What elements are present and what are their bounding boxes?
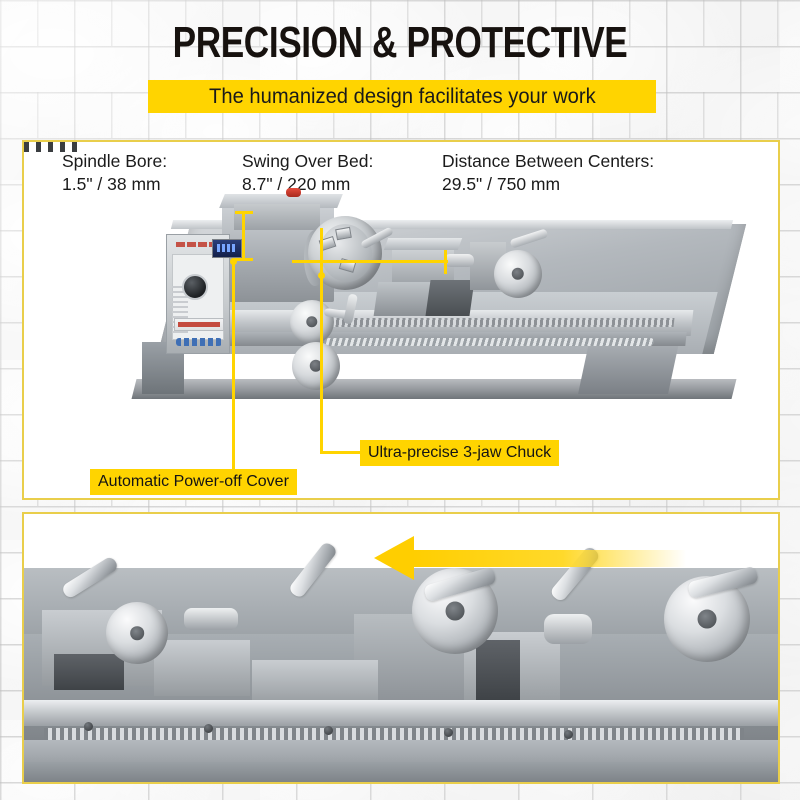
closeup-bed-way	[24, 700, 778, 726]
tailstock-quill	[444, 254, 474, 267]
closeup-cross-slide	[154, 640, 250, 696]
spindle-bore-dimension-line	[242, 211, 245, 261]
cover-leader-line-vertical	[232, 260, 235, 482]
closeup-pin-right	[544, 614, 592, 644]
page-title: PRECISION & PROTECTIVE	[80, 18, 720, 68]
cover-leader-dot	[230, 258, 237, 265]
cross-slide-handwheel	[290, 300, 334, 344]
bolt	[564, 730, 573, 739]
tailstock-handwheel	[494, 250, 542, 298]
caution-sticker	[174, 318, 224, 331]
emergency-stop-button	[286, 188, 301, 197]
control-button-row	[176, 338, 222, 346]
callout-badge-power-off-cover: Automatic Power-off Cover	[90, 469, 297, 495]
apron-handwheel	[292, 342, 340, 390]
header: PRECISION & PROTECTIVE The humanized des…	[0, 0, 800, 128]
apron	[425, 280, 474, 316]
tool-post-top	[384, 238, 462, 250]
bolt	[324, 726, 333, 735]
power-off-cover	[234, 204, 320, 230]
closeup-dial-wheel	[106, 602, 168, 664]
top-feature-panel: Spindle Bore: 1.5" / 38 mm Swing Over Be…	[22, 140, 780, 500]
dimension-cap-bottom	[235, 258, 253, 261]
dimension-cap-right	[444, 250, 447, 274]
direction-arrow-head	[374, 536, 414, 580]
lead-screw	[324, 338, 655, 346]
speed-control-knob	[182, 274, 208, 300]
chuck-leader-line-horizontal	[320, 451, 364, 454]
rack-gear	[324, 318, 675, 327]
closeup-dark-block-right	[476, 640, 520, 700]
subtitle-text: The humanized design facilitates your wo…	[209, 85, 596, 109]
bolt	[444, 728, 453, 737]
tool-bits	[24, 142, 80, 152]
subtitle-banner: The humanized design facilitates your wo…	[148, 80, 656, 113]
callout-badge-chuck: Ultra-precise 3-jaw Chuck	[360, 440, 559, 466]
closeup-pin-left	[184, 608, 238, 630]
direction-arrow-shaft	[412, 550, 686, 567]
base-foot-right	[578, 338, 680, 394]
chuck-leader-line-vertical	[320, 228, 323, 454]
digital-display	[212, 239, 242, 258]
closeup-dark-block-left	[54, 654, 124, 690]
bottom-closeup-panel	[22, 512, 780, 784]
distance-between-centers-dimension-line	[292, 260, 448, 263]
bolt	[204, 724, 213, 733]
chuck-leader-dot	[318, 272, 325, 279]
product-infographic: PRECISION & PROTECTIVE The humanized des…	[0, 0, 800, 800]
dimension-cap-top	[235, 211, 253, 214]
bolt	[84, 722, 93, 731]
closeup-bed-front	[24, 762, 778, 782]
